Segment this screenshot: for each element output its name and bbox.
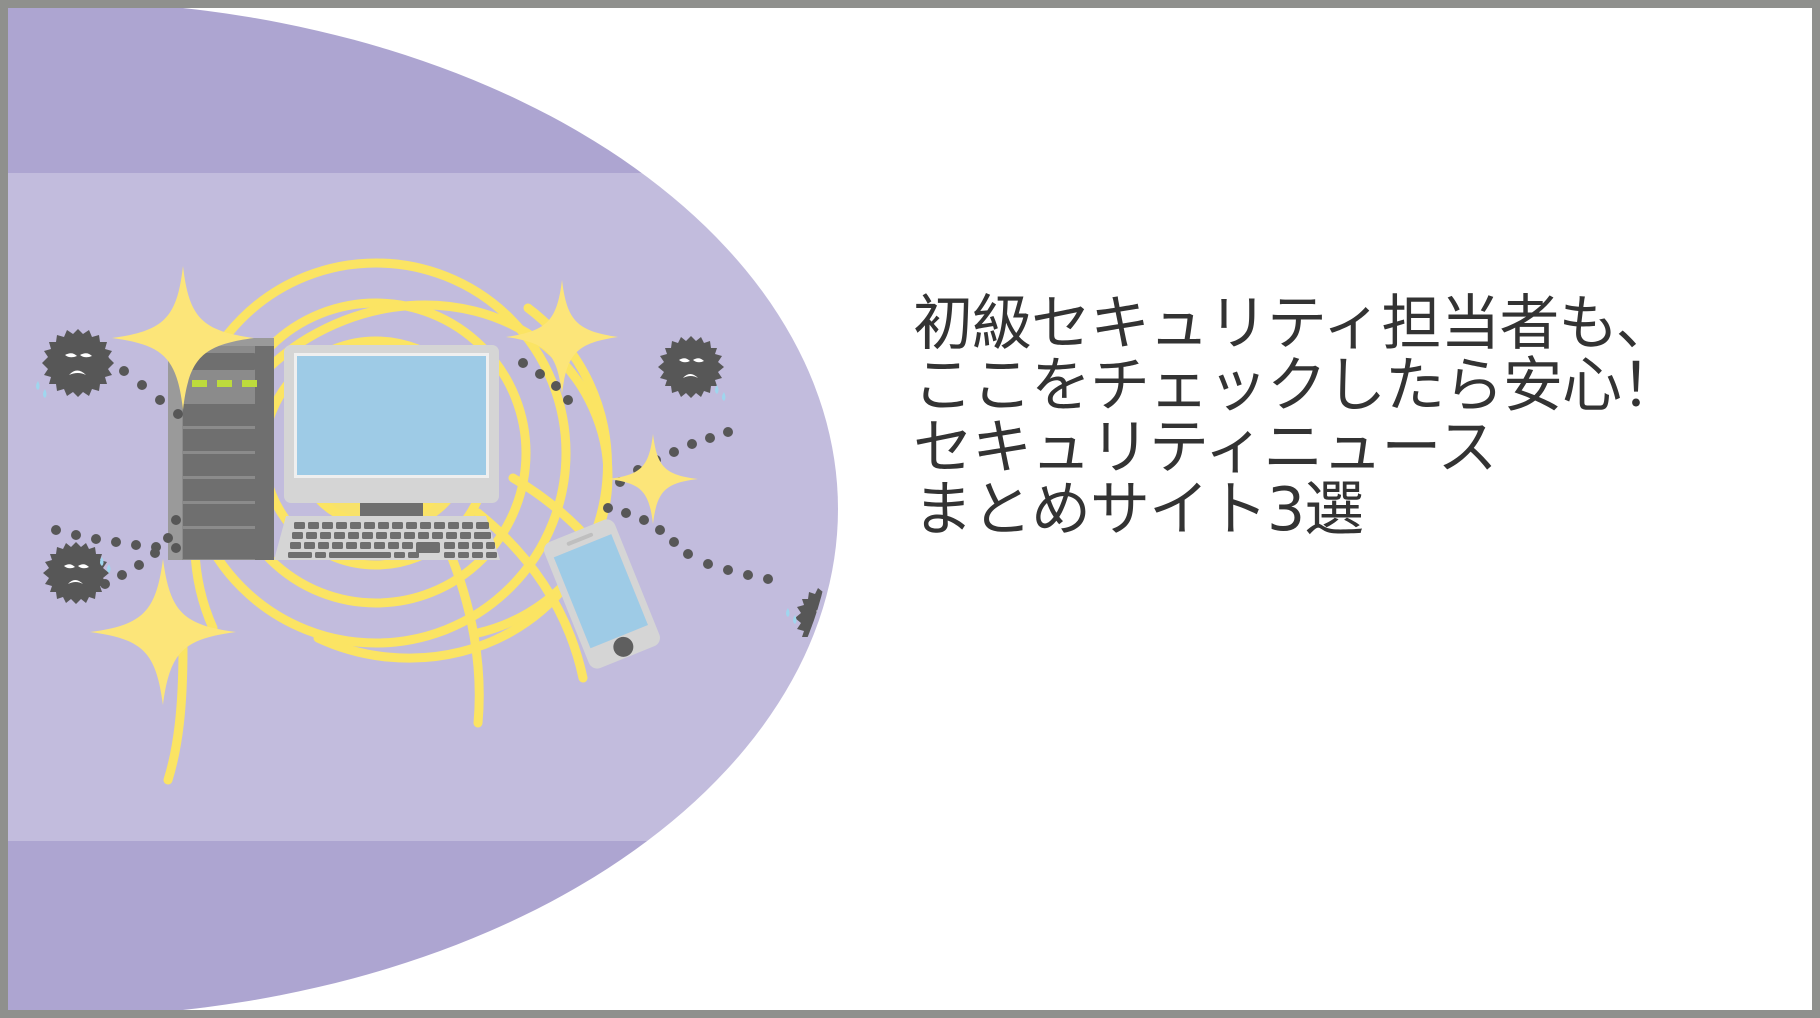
slide-canvas: 初級セキュリティ担当者も、 ここをチェックしたら安心！ セキュリティニュース ま… (0, 0, 1820, 1018)
virus-icon (36, 329, 114, 398)
sparkle-icon (608, 434, 698, 524)
illustration-panel (8, 8, 838, 1010)
headline-line-1: 初級セキュリティ担当者も、 (913, 293, 1793, 355)
headline-line-3: セキュリティニュース (913, 417, 1793, 479)
sweat-drop (36, 381, 47, 398)
tower-led (192, 380, 207, 387)
security-illustration (8, 8, 838, 1010)
virus-icon (43, 542, 111, 604)
virus-icon (786, 587, 838, 649)
headline-block: 初級セキュリティ担当者も、 ここをチェックしたら安心！ セキュリティニュース ま… (913, 293, 1793, 541)
headline-line-4: まとめサイト3選 (913, 479, 1793, 541)
sparkle-icon (506, 280, 618, 394)
keyboard-icon (274, 516, 500, 560)
tower-led (242, 380, 257, 387)
headline-line-2: ここをチェックしたら安心！ (913, 355, 1793, 417)
sweat-drop (715, 385, 726, 401)
tower-led (217, 380, 232, 387)
monitor-screen (297, 356, 486, 475)
sweat-drop (786, 608, 797, 624)
virus-icon (658, 336, 726, 401)
sparkle-icon (90, 559, 236, 705)
